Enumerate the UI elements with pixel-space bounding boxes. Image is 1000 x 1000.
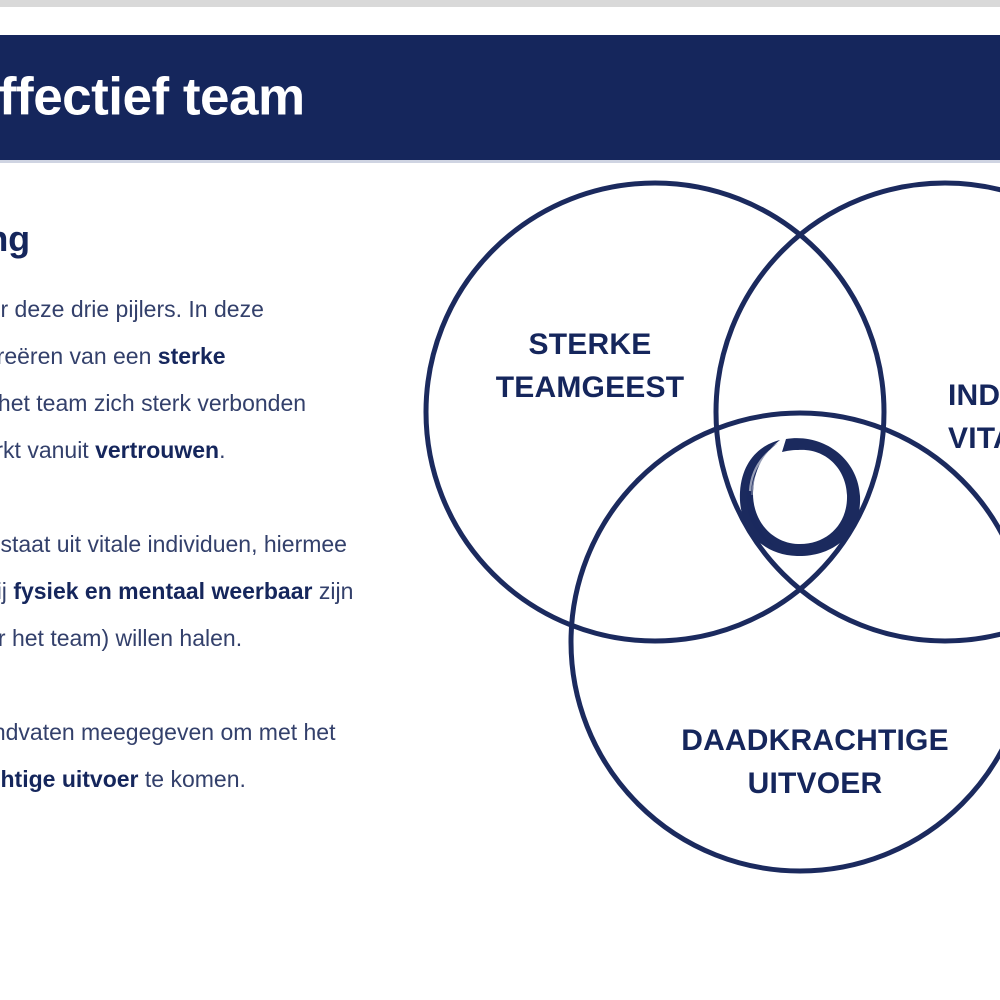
venn-label-uitvoer: DAADKRACHTIGE UITVOER (650, 720, 980, 805)
body-text: Ook worden er handvaten meegegeven om me… (0, 719, 336, 745)
venn-label-teamgeest-line2: TEAMGEEST (480, 367, 700, 410)
emphasis-text: sterke (158, 343, 226, 369)
body-text: . (219, 437, 225, 463)
paragraph-vitaliteit-line: Een vitaal team bestaat uit vitale indiv… (0, 531, 347, 557)
body-text: om alles eruit (voor het team) willen ha… (0, 625, 242, 651)
venn-label-uitvoer-line2: UITVOER (650, 763, 980, 806)
paragraph-uitvoer: Ook worden er handvaten meegegeven om me… (0, 709, 330, 803)
paragraph-uitvoer-line: Ook worden er handvaten meegegeven om me… (0, 719, 336, 745)
venn-label-uitvoer-line1: DAADKRACHTIGE (650, 720, 980, 763)
section-heading: Teamtraining (0, 218, 330, 260)
venn-diagram: STERKE TEAMGEEST INDIVIDUELE VITALITEIT … (400, 160, 1000, 900)
venn-label-teamgeest: STERKE TEAMGEEST (480, 324, 700, 409)
body-text: Er is aandacht voor deze drie pijlers. I… (0, 296, 264, 322)
body-text: training gaan we creëren van een (0, 343, 158, 369)
body-text-column: Teamtraining Er is aandacht voor deze dr… (0, 218, 330, 803)
enso-brush-circle-logo (740, 438, 860, 556)
body-text: te komen. (139, 766, 246, 792)
paragraph-teamgeest-line: training gaan we creëren van een sterke (0, 343, 226, 369)
body-text: zijn (312, 578, 353, 604)
paragraph-teamgeest-line: teamgeest waarin het team zich sterk ver… (0, 390, 306, 416)
body-text: bedoelen we dat zij (0, 578, 13, 604)
paragraph-vitaliteit-line: om alles eruit (voor het team) willen ha… (0, 625, 242, 651)
body-text: Een vitaal team bestaat uit vitale indiv… (0, 531, 347, 557)
emphasis-text: fysiek en mentaal weerbaar (13, 578, 312, 604)
paragraph-list: Er is aandacht voor deze drie pijlers. I… (0, 286, 330, 803)
body-text: teamgeest waarin het team zich sterk ver… (0, 390, 306, 416)
body-text: voelt en samenwerkt vanuit (0, 437, 95, 463)
venn-label-vitaliteit: INDIVIDUELE VITALITEIT (948, 375, 1000, 460)
paragraph-teamgeest: Er is aandacht voor deze drie pijlers. I… (0, 286, 330, 474)
window-top-strip (0, 0, 1000, 7)
slide-page: Een effectief team Teamtraining Er is aa… (0, 0, 1000, 1000)
paragraph-uitvoer-line: team tot daadkrachtige uitvoer te komen. (0, 766, 246, 792)
emphasis-text: daadkrachtige uitvoer (0, 766, 139, 792)
venn-label-vitaliteit-line1: INDIVIDUELE (948, 375, 1000, 418)
emphasis-text: vertrouwen (95, 437, 219, 463)
paragraph-teamgeest-line: Er is aandacht voor deze drie pijlers. I… (0, 296, 264, 322)
venn-label-teamgeest-line1: STERKE (480, 324, 700, 367)
venn-label-vitaliteit-line2: VITALITEIT (948, 418, 1000, 461)
paragraph-vitaliteit: Een vitaal team bestaat uit vitale indiv… (0, 521, 330, 662)
paragraph-vitaliteit-line: bedoelen we dat zij fysiek en mentaal we… (0, 578, 353, 604)
page-margin-top (0, 7, 1000, 35)
paragraph-teamgeest-line: voelt en samenwerkt vanuit vertrouwen. (0, 437, 225, 463)
title-banner: Een effectief team (0, 35, 1000, 160)
page-title: Een effectief team (0, 66, 305, 127)
